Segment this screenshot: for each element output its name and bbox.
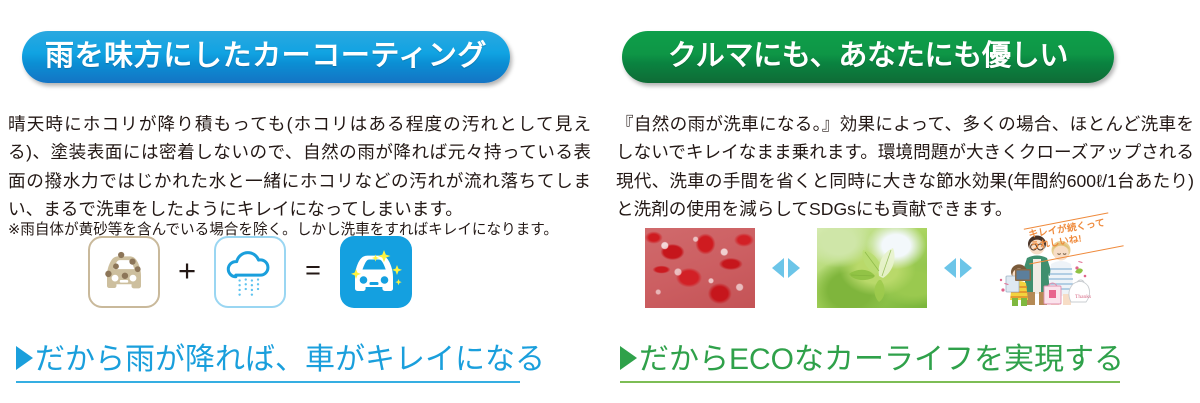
arrows-divider-icon	[769, 253, 803, 283]
right-column: クルマにも、あなたにも優しい 『自然の雨が洗車になる。』効果によって、多くの場合…	[600, 0, 1200, 403]
triangle-bullet-icon	[620, 346, 637, 370]
left-heading-banner: 雨を味方にしたカーコーティング	[22, 31, 510, 83]
left-heading-text: 雨を味方にしたカーコーティング	[45, 42, 487, 71]
page-root: 雨を味方にしたカーコーティング 晴天時にホコリが降り積もっても(ホコリはある程度…	[0, 0, 1200, 403]
triangle-bullet-icon	[16, 346, 33, 370]
svg-text:Thanks: Thanks	[1075, 294, 1091, 300]
right-tagline-text: だからECOなカーライフを実現する	[639, 344, 1124, 376]
arrows-divider-icon	[941, 253, 975, 283]
left-body-text: 晴天時にホコリが降り積もっても(ホコリはある程度の汚れとして見える)、塗装表面に…	[8, 110, 591, 224]
left-equation-strip: + =	[88, 236, 412, 308]
water-beading-photo	[645, 228, 755, 308]
left-tagline-text: だから雨が降れば、車がキレイになる	[35, 344, 545, 376]
right-body-text: 『自然の雨が洗車になる。』効果によって、多くの場合、ほとんど洗車をしないでキレイ…	[616, 110, 1194, 224]
sparkling-clean-car-icon	[340, 236, 412, 308]
left-heading-pill: 雨を味方にしたカーコーティング	[22, 31, 510, 83]
dusty-car-icon	[88, 236, 160, 308]
right-heading-text: クルマにも、あなたにも優しい	[668, 42, 1068, 71]
left-column: 雨を味方にしたカーコーティング 晴天時にホコリが降り積もっても(ホコリはある程度…	[0, 0, 600, 403]
plus-operator: +	[174, 255, 200, 290]
left-tagline: だから雨が降れば、車がキレイになる	[16, 344, 520, 384]
right-heading-pill: クルマにも、あなたにも優しい	[622, 31, 1114, 83]
right-tagline: だからECOなカーライフを実現する	[620, 344, 1120, 384]
right-heading-banner: クルマにも、あなたにも優しい	[622, 31, 1114, 83]
green-leaves-photo	[817, 228, 927, 308]
rain-cloud-icon	[214, 236, 286, 308]
equals-operator: =	[300, 257, 326, 288]
